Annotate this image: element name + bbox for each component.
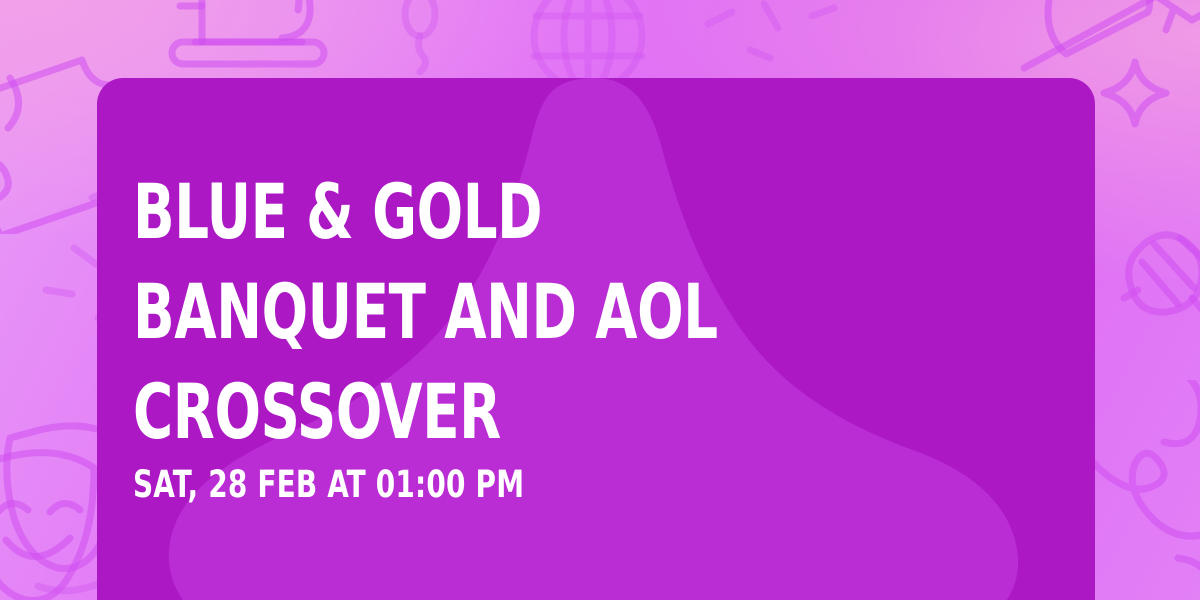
event-title: Blue & Gold Banquet and AOL Crossover bbox=[133, 162, 853, 462]
sparkle-icon bbox=[1100, 58, 1170, 128]
balloon-icon bbox=[396, 0, 444, 76]
event-banner: Blue & Gold Banquet and AOL Crossover Sa… bbox=[0, 0, 1200, 600]
microphone-icon bbox=[1116, 228, 1200, 368]
event-card[interactable]: Blue & Gold Banquet and AOL Crossover Sa… bbox=[97, 78, 1095, 600]
event-date: Sat, 28 Feb at 01:00 PM bbox=[133, 463, 524, 507]
confetti-icon bbox=[692, 0, 852, 74]
